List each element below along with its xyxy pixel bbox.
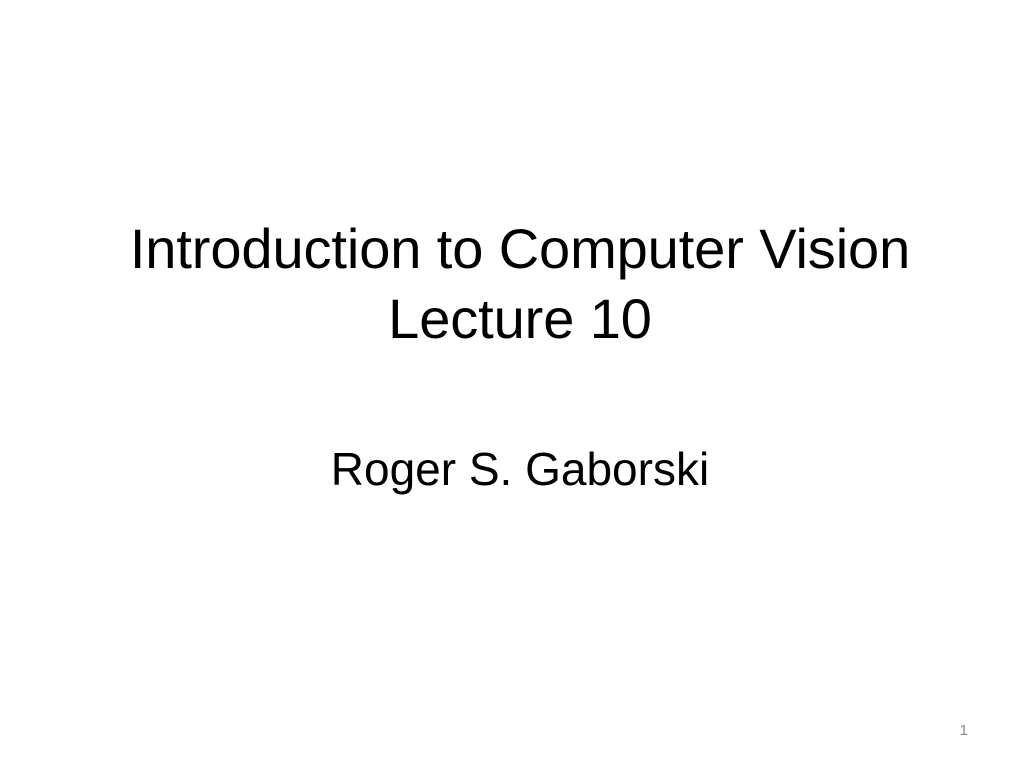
slide-subtitle: Roger S. Gaborski [90,441,950,497]
title-line-course: Introduction to Computer Vision [90,214,950,284]
subtitle-author-name: Roger S. Gaborski [90,441,950,497]
slide-title: Introduction to Computer Vision Lecture … [90,214,950,354]
slide-number: 1 [960,722,968,740]
title-line-lecture: Lecture 10 [90,284,950,354]
slide-canvas: Introduction to Computer Vision Lecture … [0,0,1024,768]
